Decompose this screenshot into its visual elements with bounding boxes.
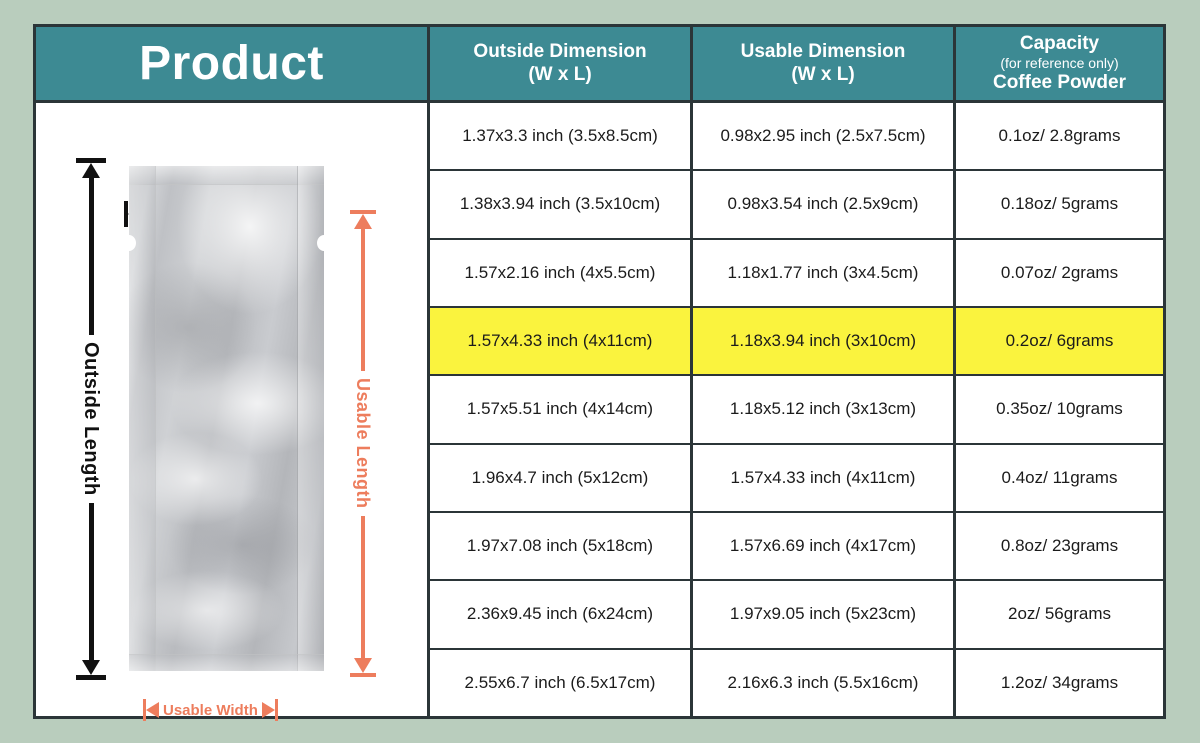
column-header-line: Coffee Powder [993,72,1126,94]
product-panel: Product Outside Width Outside Length [36,27,430,716]
arrow-left-icon [146,702,159,718]
cell-usable-dimension: 1.97x9.05 inch (5x23cm) [693,581,956,647]
usable-length-label: Usable Length [354,371,372,516]
arrow-down-icon [82,660,100,675]
cell-outside-dimension: 1.38x3.94 inch (3.5x10cm) [430,171,693,237]
column-header-line: Usable Dimension [741,41,906,63]
tear-notch-left-icon [122,235,136,251]
table-row: 1.38x3.94 inch (3.5x10cm)0.98x3.54 inch … [430,171,1163,239]
cell-usable-dimension: 0.98x2.95 inch (2.5x7.5cm) [693,103,956,169]
product-size-chart-page: Product Outside Width Outside Length [0,0,1200,743]
cell-capacity: 0.2oz/ 6grams [956,308,1163,374]
tear-notch-right-icon [317,235,331,251]
cell-capacity: 0.1oz/ 2.8grams [956,103,1163,169]
table-row: 1.37x3.3 inch (3.5x8.5cm)0.98x2.95 inch … [430,103,1163,171]
tick-mark-icon [350,673,376,677]
cell-capacity: 0.18oz/ 5grams [956,171,1163,237]
arrow-up-icon [354,214,372,229]
cell-usable-dimension: 2.16x6.3 inch (5.5x16cm) [693,650,956,716]
dimension-line [89,503,94,660]
table-header-row: Outside Dimension (W x L) Usable Dimensi… [430,27,1163,103]
pouch-bottom-seal [129,654,324,671]
arrow-up-icon [82,163,100,178]
usable-width-label: Usable Width [159,703,262,718]
dimension-table: Outside Dimension (W x L) Usable Dimensi… [430,27,1163,716]
column-header-outside-dimension: Outside Dimension (W x L) [430,27,693,100]
dimension-line [361,229,365,371]
table-row: 2.55x6.7 inch (6.5x17cm)2.16x6.3 inch (5… [430,650,1163,716]
cell-usable-dimension: 1.18x3.94 inch (3x10cm) [693,308,956,374]
column-header-line: Outside Dimension [473,41,646,63]
cell-usable-dimension: 1.18x1.77 inch (3x4.5cm) [693,240,956,306]
tick-mark-icon [275,699,278,721]
cell-capacity: 0.4oz/ 11grams [956,445,1163,511]
cell-outside-dimension: 1.97x7.08 inch (5x18cm) [430,513,693,579]
dimension-line [89,178,94,335]
column-header-usable-dimension: Usable Dimension (W x L) [693,27,956,100]
cell-outside-dimension: 1.57x5.51 inch (4x14cm) [430,376,693,442]
cell-outside-dimension: 1.57x2.16 inch (4x5.5cm) [430,240,693,306]
product-diagram: Outside Width Outside Length [36,103,427,716]
dimension-line [361,516,365,658]
table-row: 1.57x2.16 inch (4x5.5cm)1.18x1.77 inch (… [430,240,1163,308]
outside-length-label: Outside Length [81,335,101,503]
cell-capacity: 0.8oz/ 23grams [956,513,1163,579]
column-header-line: (W x L) [528,64,591,86]
cell-usable-dimension: 1.57x6.69 inch (4x17cm) [693,513,956,579]
cell-outside-dimension: 1.96x4.7 inch (5x12cm) [430,445,693,511]
table-row: 1.97x7.08 inch (5x18cm)1.57x6.69 inch (4… [430,513,1163,581]
cell-capacity: 0.07oz/ 2grams [956,240,1163,306]
chart-card: Product Outside Width Outside Length [33,24,1166,719]
tick-mark-icon [76,675,106,680]
table-row: 1.57x4.33 inch (4x11cm)1.18x3.94 inch (3… [430,308,1163,376]
product-header: Product [36,27,427,103]
outside-length-annotation: Outside Length [74,158,108,680]
cell-usable-dimension: 1.57x4.33 inch (4x11cm) [693,445,956,511]
table-row: 1.96x4.7 inch (5x12cm)1.57x4.33 inch (4x… [430,445,1163,513]
cell-capacity: 1.2oz/ 34grams [956,650,1163,716]
product-header-title: Product [139,40,324,88]
cell-usable-dimension: 0.98x3.54 inch (2.5x9cm) [693,171,956,237]
column-header-line: Capacity [1020,33,1099,55]
table-body: 1.37x3.3 inch (3.5x8.5cm)0.98x2.95 inch … [430,103,1163,716]
arrow-down-icon [354,658,372,673]
cell-capacity: 0.35oz/ 10grams [956,376,1163,442]
column-header-subnote: (for reference only) [1000,55,1118,72]
cell-outside-dimension: 1.57x4.33 inch (4x11cm) [430,308,693,374]
cell-capacity: 2oz/ 56grams [956,581,1163,647]
arrow-right-icon [262,702,275,718]
pouch-top-seal [129,166,324,185]
column-header-line: (W x L) [791,64,854,86]
cell-outside-dimension: 1.37x3.3 inch (3.5x8.5cm) [430,103,693,169]
usable-width-annotation: Usable Width [143,697,313,723]
product-pouch-image [129,166,324,671]
table-row: 2.36x9.45 inch (6x24cm)1.97x9.05 inch (5… [430,581,1163,649]
column-header-capacity: Capacity (for reference only) Coffee Pow… [956,27,1163,100]
cell-outside-dimension: 2.36x9.45 inch (6x24cm) [430,581,693,647]
cell-outside-dimension: 2.55x6.7 inch (6.5x17cm) [430,650,693,716]
usable-length-annotation: Usable Length [348,210,378,677]
cell-usable-dimension: 1.18x5.12 inch (3x13cm) [693,376,956,442]
table-row: 1.57x5.51 inch (4x14cm)1.18x5.12 inch (3… [430,376,1163,444]
